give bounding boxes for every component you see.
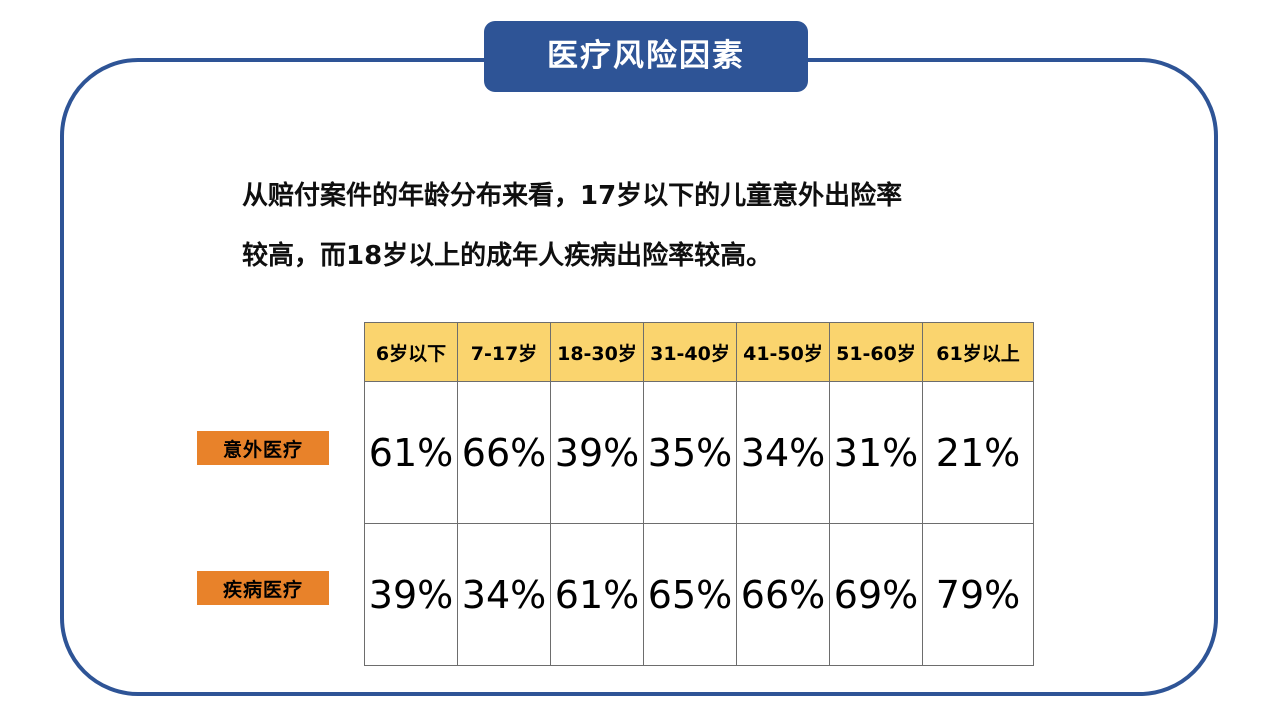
table-header: 6岁以下 7-17岁 18-30岁 31-40岁 41-50岁 51-60岁 6…	[365, 323, 1034, 382]
table-cell-accident-0: 61%	[365, 382, 458, 524]
body-paragraph-line-1: 从赔付案件的年龄分布来看，17岁以下的儿童意外出险率	[242, 166, 1082, 226]
table-header-cell-age-6: 61岁以上	[923, 323, 1034, 382]
table-header-cell-age-0: 6岁以下	[365, 323, 458, 382]
table-cell-accident-4: 34%	[737, 382, 830, 524]
table-header-cell-age-2: 18-30岁	[551, 323, 644, 382]
table-cell-disease-6: 79%	[923, 524, 1034, 666]
table-cell-accident-1: 66%	[458, 382, 551, 524]
table-header-cell-age-4: 41-50岁	[737, 323, 830, 382]
table-header-cell-age-1: 7-17岁	[458, 323, 551, 382]
table-header-cell-age-3: 31-40岁	[644, 323, 737, 382]
body-paragraph-line-2: 较高，而18岁以上的成年人疾病出险率较高。	[242, 226, 1082, 286]
table-cell-disease-1: 34%	[458, 524, 551, 666]
table-cell-accident-5: 31%	[830, 382, 923, 524]
table-cell-accident-2: 39%	[551, 382, 644, 524]
row-label-badge-disease-medical: 疾病医疗	[197, 571, 329, 605]
table-row: 39% 34% 61% 65% 66% 69% 79%	[365, 524, 1034, 666]
table-header-cell-age-5: 51-60岁	[830, 323, 923, 382]
body-paragraph: 从赔付案件的年龄分布来看，17岁以下的儿童意外出险率 较高，而18岁以上的成年人…	[242, 166, 1082, 286]
risk-rate-table: 6岁以下 7-17岁 18-30岁 31-40岁 41-50岁 51-60岁 6…	[364, 322, 1034, 666]
table-cell-disease-5: 69%	[830, 524, 923, 666]
table-header-row: 6岁以下 7-17岁 18-30岁 31-40岁 41-50岁 51-60岁 6…	[365, 323, 1034, 382]
table-cell-accident-6: 21%	[923, 382, 1034, 524]
table-cell-disease-0: 39%	[365, 524, 458, 666]
row-label-text: 疾病医疗	[223, 575, 303, 602]
page-title: 医疗风险因素	[547, 41, 745, 72]
table-cell-disease-3: 65%	[644, 524, 737, 666]
table-cell-accident-3: 35%	[644, 382, 737, 524]
row-label-text: 意外医疗	[223, 435, 303, 462]
row-label-badge-accident-medical: 意外医疗	[197, 431, 329, 465]
table-body: 61% 66% 39% 35% 34% 31% 21% 39% 34% 61% …	[365, 382, 1034, 666]
slide-title-banner: 医疗风险因素	[484, 21, 808, 92]
table-cell-disease-4: 66%	[737, 524, 830, 666]
table-cell-disease-2: 61%	[551, 524, 644, 666]
table-row: 61% 66% 39% 35% 34% 31% 21%	[365, 382, 1034, 524]
